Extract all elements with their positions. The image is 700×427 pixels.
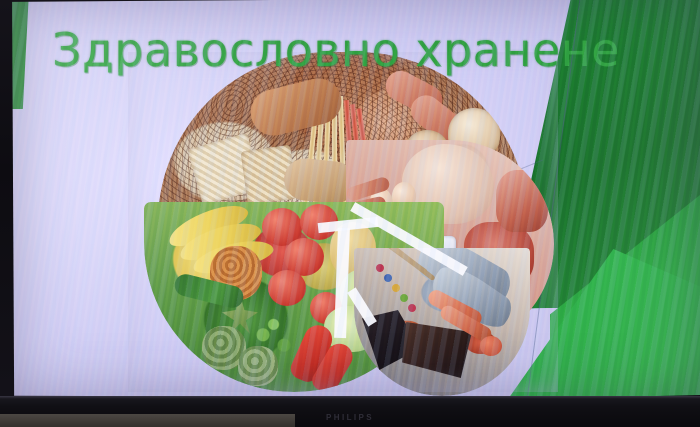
food-ham	[496, 170, 548, 232]
food-shrimp	[480, 336, 502, 356]
food-tomato	[268, 270, 306, 306]
food-olive	[400, 294, 408, 302]
plate-segment-fish-seafood	[354, 248, 530, 396]
food-plate-figure	[128, 52, 558, 392]
tv-bezel-lip	[0, 396, 700, 399]
philips-brand-logo: PHILIPS	[0, 413, 700, 422]
food-berry	[408, 304, 416, 312]
food-artichoke	[238, 346, 278, 386]
food-berry	[392, 284, 400, 292]
photo-of-tv-screen: Здравословно хранене PHILIPS	[0, 0, 700, 427]
slide-title: Здравословно хранене	[52, 26, 612, 76]
food-berry	[376, 264, 384, 272]
tv-screen-area: Здравословно хранене	[10, 0, 700, 399]
food-berry	[384, 274, 392, 282]
